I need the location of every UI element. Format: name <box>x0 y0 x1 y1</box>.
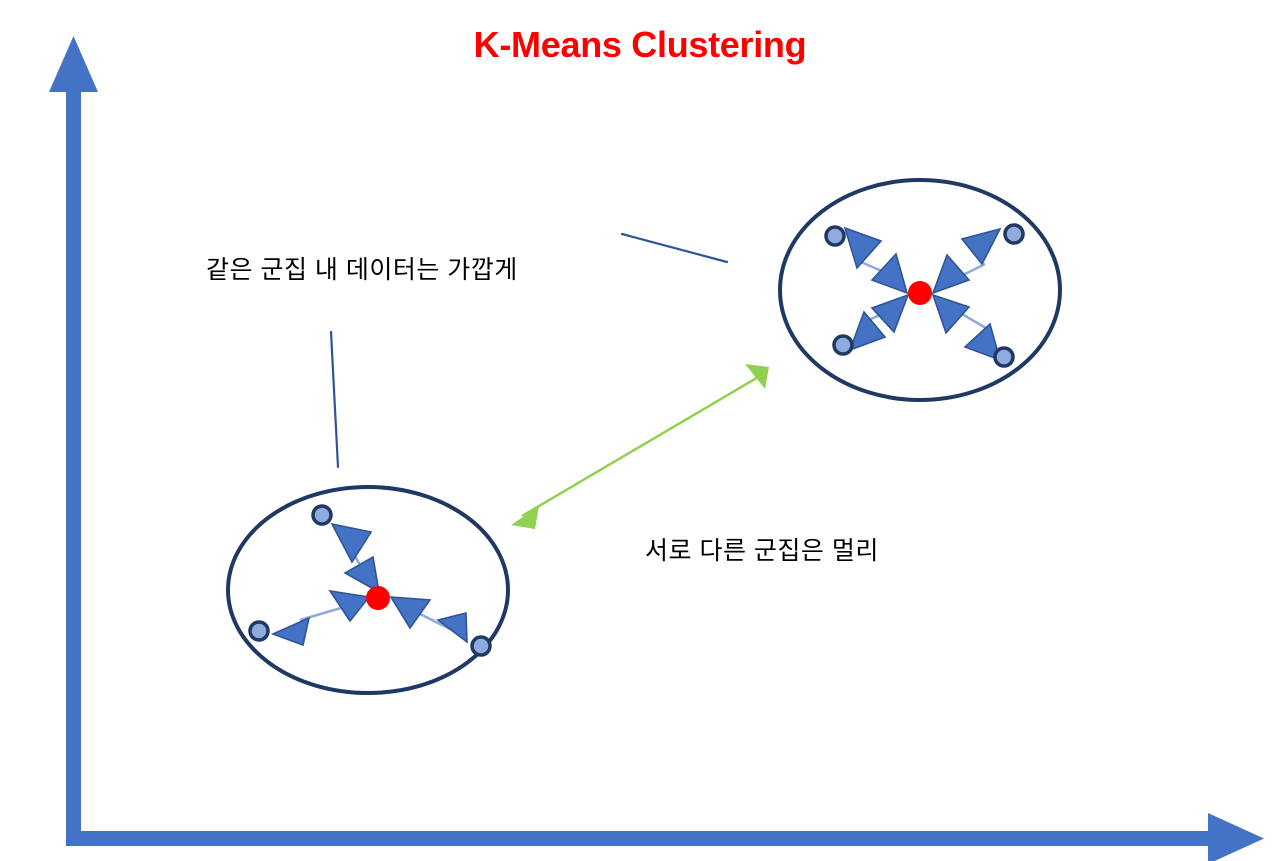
inter-cluster-annotation-label: 서로 다른 군집은 멀리 <box>645 531 879 567</box>
data-point <box>313 506 331 524</box>
distance-arrow <box>391 597 467 642</box>
kmeans-diagram-svg <box>0 0 1280 861</box>
leader-line-intra <box>622 234 727 262</box>
cluster-centroid <box>908 281 932 305</box>
x-axis <box>66 813 1264 861</box>
page-title: K-Means Clustering <box>0 24 1280 66</box>
cluster-centroid <box>366 586 390 610</box>
distance-arrow <box>933 295 1000 360</box>
cluster-bottom-left[interactable] <box>228 487 508 693</box>
data-point <box>834 336 852 354</box>
axes-group <box>49 36 1264 861</box>
cluster-top-right[interactable] <box>780 180 1060 400</box>
diagram-canvas: K-Means Clustering 같은 군집 내 데이터는 가깝게 서로 다… <box>0 0 1280 861</box>
data-point <box>995 348 1013 366</box>
data-point <box>1005 225 1023 243</box>
cluster-boundary-ellipse <box>228 487 508 693</box>
distance-arrow <box>273 591 369 645</box>
intra-cluster-annotation-label: 같은 군집 내 데이터는 가깝게 <box>206 250 518 286</box>
data-point <box>250 622 268 640</box>
inter-cluster-distance-arrow <box>511 364 769 529</box>
distance-arrow <box>845 228 907 293</box>
distance-arrow <box>850 295 908 350</box>
data-point <box>472 637 490 655</box>
distance-arrow <box>332 524 379 592</box>
leader-line-cluster <box>331 332 338 467</box>
data-point <box>826 227 844 245</box>
y-axis <box>49 36 98 838</box>
distance-arrow <box>933 229 1000 293</box>
